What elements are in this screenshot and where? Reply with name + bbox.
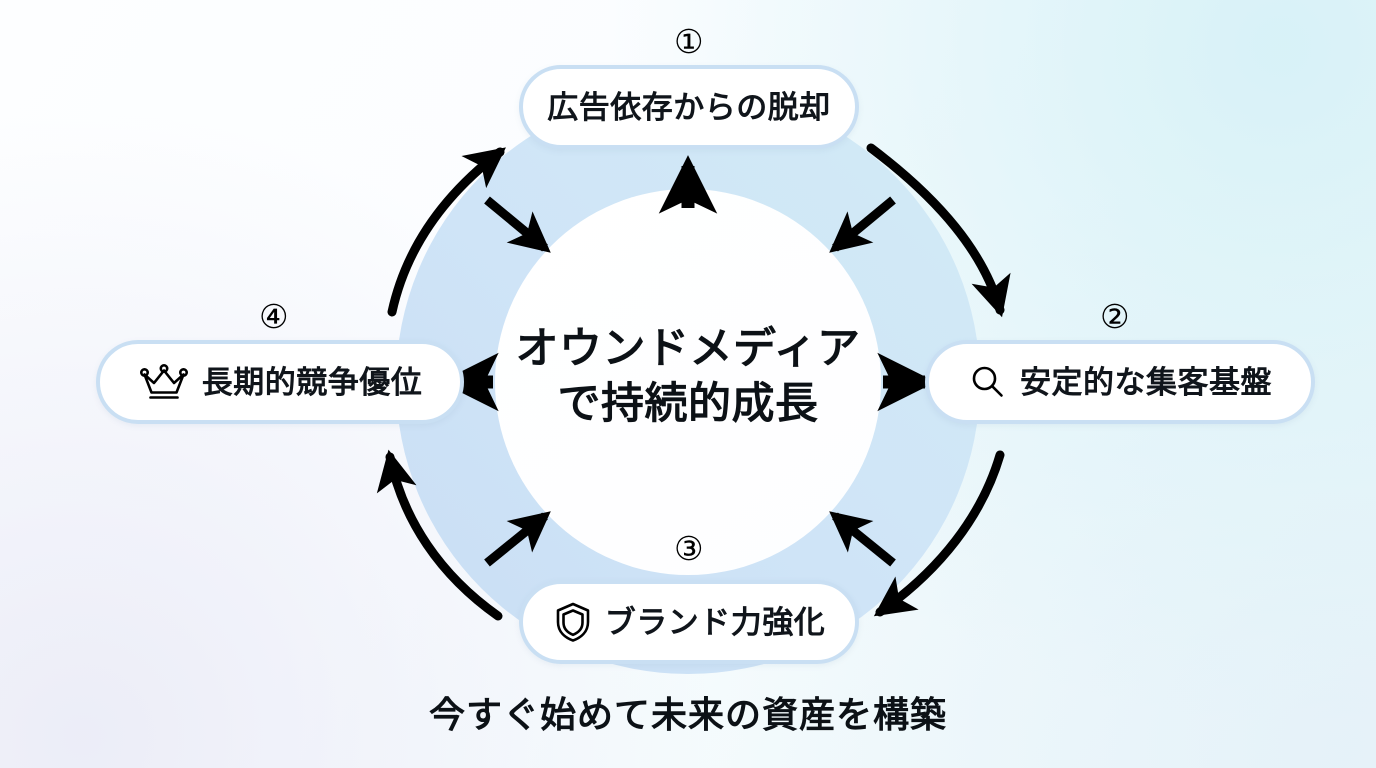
shield-icon xyxy=(553,601,593,643)
node-1-label: 広告依存からの脱却 xyxy=(547,92,831,123)
step-number-2: ② xyxy=(1100,300,1130,333)
node-4-label: 長期的競争優位 xyxy=(202,367,423,398)
step-number-1: ① xyxy=(674,25,704,58)
node-long-term-advantage[interactable]: 長期的競争優位 xyxy=(96,340,464,424)
node-brand-power[interactable]: ブランド力強化 xyxy=(519,580,859,664)
node-2-label: 安定的な集客基盤 xyxy=(1020,367,1272,398)
node-ad-independence[interactable]: 広告依存からの脱却 xyxy=(519,65,859,149)
node-3-label: ブランド力強化 xyxy=(605,607,826,638)
diagram-canvas: オウンドメディア で持続的成長 ① ② ③ ④ 広告依存からの脱却 安定的な集客… xyxy=(0,0,1376,768)
inner-circle xyxy=(495,189,881,575)
crown-icon xyxy=(138,362,190,402)
step-number-4: ④ xyxy=(259,300,289,333)
bottom-caption: 今すぐ始めて未来の資産を構築 xyxy=(0,686,1376,738)
node-stable-traffic[interactable]: 安定的な集客基盤 xyxy=(925,340,1315,424)
step-number-3: ③ xyxy=(674,532,704,565)
magnifier-icon xyxy=(968,362,1008,402)
